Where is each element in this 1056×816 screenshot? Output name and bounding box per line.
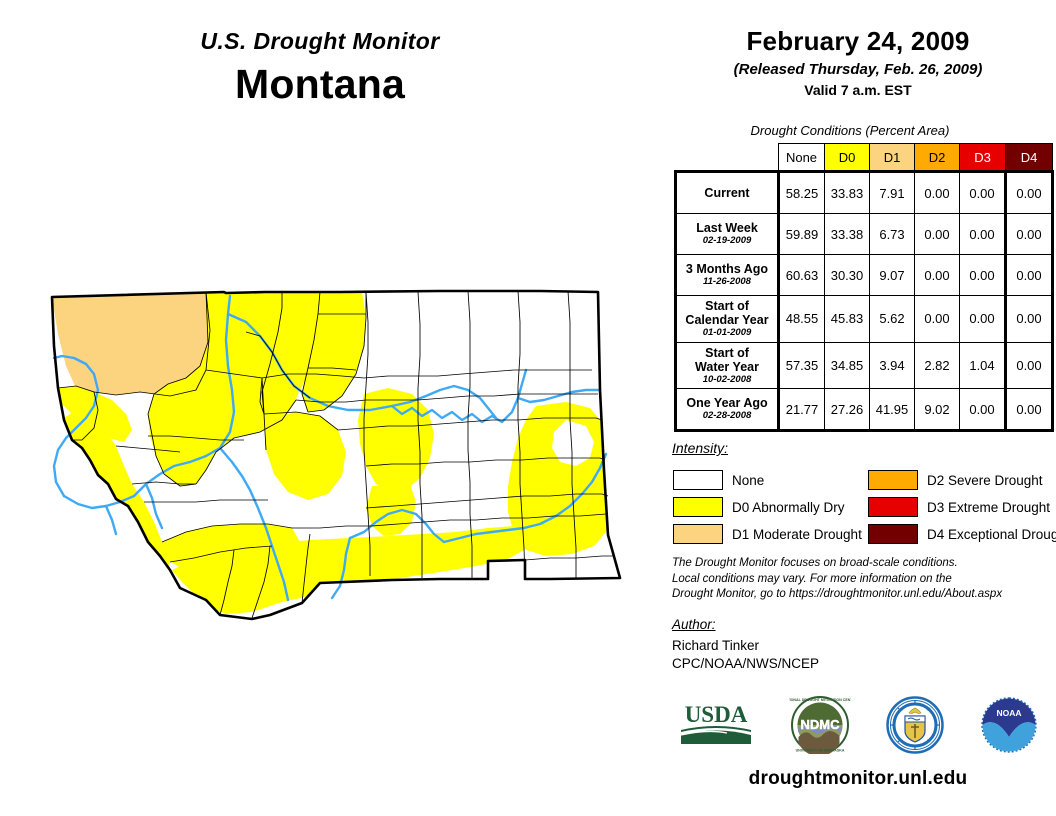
cell-d2: 2.82 <box>915 342 960 389</box>
svg-text:NDMC: NDMC <box>801 717 841 732</box>
cell-d1: 6.73 <box>870 214 915 255</box>
state-title: Montana <box>0 61 640 108</box>
column-header-d4: D4 <box>1006 144 1053 172</box>
program-title: U.S. Drought Monitor <box>0 28 640 55</box>
author-organization: CPC/NOAA/NWS/NCEP <box>672 656 819 671</box>
cell-d0: 34.85 <box>825 342 870 389</box>
noaa-logo: NOAA <box>979 696 1039 754</box>
legend-swatch-d0 <box>673 497 723 517</box>
map-title-block: U.S. Drought Monitor Montana <box>0 28 640 108</box>
legend-swatch-d2 <box>868 470 918 490</box>
cell-d0: 30.30 <box>825 255 870 296</box>
row-label-date: 11-26-2008 <box>681 277 773 288</box>
table-row: Current58.2533.837.910.000.000.00 <box>676 172 1053 214</box>
legend-label-d0: D0 Abnormally Dry <box>732 500 845 515</box>
website-url: droughtmonitor.unl.edu <box>660 768 1056 790</box>
report-released: (Released Thursday, Feb. 26, 2009) <box>660 61 1056 78</box>
cell-d4: 0.00 <box>1006 255 1053 296</box>
legend-label-d3: D3 Extreme Drought <box>927 500 1050 515</box>
svg-text:NATIONAL DROUGHT MITIGATION CE: NATIONAL DROUGHT MITIGATION CENTER <box>789 698 851 702</box>
author-name: Richard Tinker <box>672 638 759 653</box>
intensity-heading: Intensity: <box>672 440 728 456</box>
table-header-row: NoneD0D1D2D3D4 <box>676 144 1053 172</box>
legend-label-none: None <box>732 473 764 488</box>
legend-swatch-d3 <box>868 497 918 517</box>
cell-d0: 33.38 <box>825 214 870 255</box>
cell-d0: 45.83 <box>825 296 870 343</box>
legend-column-right: D2 Severe DroughtD3 Extreme DroughtD4 Ex… <box>868 468 1056 549</box>
column-header-d3: D3 <box>960 144 1006 172</box>
table-row: Start ofCalendar Year01-01-200948.5545.8… <box>676 296 1053 343</box>
table-row: Start ofWater Year10-02-200857.3534.853.… <box>676 342 1053 389</box>
column-header-d1: D1 <box>870 144 915 172</box>
legend-label-d1: D1 Moderate Drought <box>732 527 862 542</box>
table-caption: Drought Conditions (Percent Area) <box>660 123 1040 138</box>
svg-text:UNIVERSITY OF NEBRASKA: UNIVERSITY OF NEBRASKA <box>796 749 845 753</box>
row-label: Current <box>676 172 779 214</box>
row-label: Start ofWater Year10-02-2008 <box>676 342 779 389</box>
cell-d2: 0.00 <box>915 296 960 343</box>
legend-label-d4: D4 Exceptional Drought <box>927 527 1056 542</box>
row-label-date: 02-19-2009 <box>681 236 773 247</box>
note-line-3: Drought Monitor, go to https://droughtmo… <box>672 587 1002 603</box>
cell-d1: 41.95 <box>870 389 915 431</box>
table-row: 3 Months Ago11-26-200860.6330.309.070.00… <box>676 255 1053 296</box>
column-header-d0: D0 <box>825 144 870 172</box>
author-heading: Author: <box>672 617 716 632</box>
legend-item-d2: D2 Severe Drought <box>868 468 1056 492</box>
legend-column-left: NoneD0 Abnormally DryD1 Moderate Drought <box>673 468 862 549</box>
legend-swatch-d1 <box>673 524 723 544</box>
column-header-d2: D2 <box>915 144 960 172</box>
legend-label-d2: D2 Severe Drought <box>927 473 1043 488</box>
cell-d2: 0.00 <box>915 255 960 296</box>
row-label: One Year Ago02-28-2008 <box>676 389 779 431</box>
cell-d4: 0.00 <box>1006 214 1053 255</box>
cell-none: 59.89 <box>779 214 825 255</box>
drought-conditions-table: NoneD0D1D2D3D4 Current58.2533.837.910.00… <box>674 143 1054 432</box>
cell-d2: 0.00 <box>915 214 960 255</box>
svg-text:USDA: USDA <box>685 702 748 727</box>
legend-swatch-none <box>673 470 723 490</box>
cell-d3: 0.00 <box>960 214 1006 255</box>
note-line-2: Local conditions may vary. For more info… <box>672 572 1002 588</box>
cell-d2: 0.00 <box>915 172 960 214</box>
table-row: Last Week02-19-200959.8933.386.730.000.0… <box>676 214 1053 255</box>
column-header-none: None <box>779 144 825 172</box>
report-date: February 24, 2009 <box>660 26 1056 57</box>
legend-item-d3: D3 Extreme Drought <box>868 495 1056 519</box>
montana-drought-map <box>20 270 660 650</box>
note-line-1: The Drought Monitor focuses on broad-sca… <box>672 556 1002 572</box>
legend-item-none: None <box>673 468 862 492</box>
cell-d2: 9.02 <box>915 389 960 431</box>
report-header: February 24, 2009 (Released Thursday, Fe… <box>660 26 1056 98</box>
cell-d4: 0.00 <box>1006 296 1053 343</box>
cell-d1: 5.62 <box>870 296 915 343</box>
disclaimer-notes: The Drought Monitor focuses on broad-sca… <box>672 556 1002 603</box>
sponsor-logos: USDA NDMC NATIONAL DROUGHT MITIGATION CE… <box>660 694 1056 756</box>
table-body: Current58.2533.837.910.000.000.00Last We… <box>676 172 1053 431</box>
legend-swatch-d4 <box>868 524 918 544</box>
cell-d1: 9.07 <box>870 255 915 296</box>
cell-d1: 7.91 <box>870 172 915 214</box>
svg-text:NOAA: NOAA <box>996 708 1021 718</box>
legend-item-d1: D1 Moderate Drought <box>673 522 862 546</box>
cell-none: 57.35 <box>779 342 825 389</box>
cell-d3: 0.00 <box>960 255 1006 296</box>
cell-d3: 1.04 <box>960 342 1006 389</box>
cell-d1: 3.94 <box>870 342 915 389</box>
legend-item-d0: D0 Abnormally Dry <box>673 495 862 519</box>
cell-d3: 0.00 <box>960 172 1006 214</box>
row-label: Last Week02-19-2009 <box>676 214 779 255</box>
legend-item-d4: D4 Exceptional Drought <box>868 522 1056 546</box>
ndmc-logo: NDMC NATIONAL DROUGHT MITIGATION CENTER … <box>789 696 851 754</box>
row-label: 3 Months Ago11-26-2008 <box>676 255 779 296</box>
cell-d3: 0.00 <box>960 296 1006 343</box>
cell-d4: 0.00 <box>1006 389 1053 431</box>
cell-d4: 0.00 <box>1006 172 1053 214</box>
cell-d0: 33.83 <box>825 172 870 214</box>
us-department-of-commerce-seal <box>885 696 945 754</box>
row-label-date: 02-28-2008 <box>681 411 773 422</box>
cell-none: 58.25 <box>779 172 825 214</box>
usda-logo: USDA <box>677 700 755 750</box>
table-row: One Year Ago02-28-200821.7727.2641.959.0… <box>676 389 1053 431</box>
montana-map-svg <box>20 270 660 650</box>
row-label-date: 01-01-2009 <box>681 328 773 339</box>
cell-none: 48.55 <box>779 296 825 343</box>
cell-none: 60.63 <box>779 255 825 296</box>
cell-d3: 0.00 <box>960 389 1006 431</box>
row-label-date: 10-02-2008 <box>681 375 773 386</box>
row-label: Start ofCalendar Year01-01-2009 <box>676 296 779 343</box>
cell-d4: 0.00 <box>1006 342 1053 389</box>
table-corner-cell <box>676 144 779 172</box>
cell-none: 21.77 <box>779 389 825 431</box>
report-valid-time: Valid 7 a.m. EST <box>660 82 1056 98</box>
cell-d0: 27.26 <box>825 389 870 431</box>
